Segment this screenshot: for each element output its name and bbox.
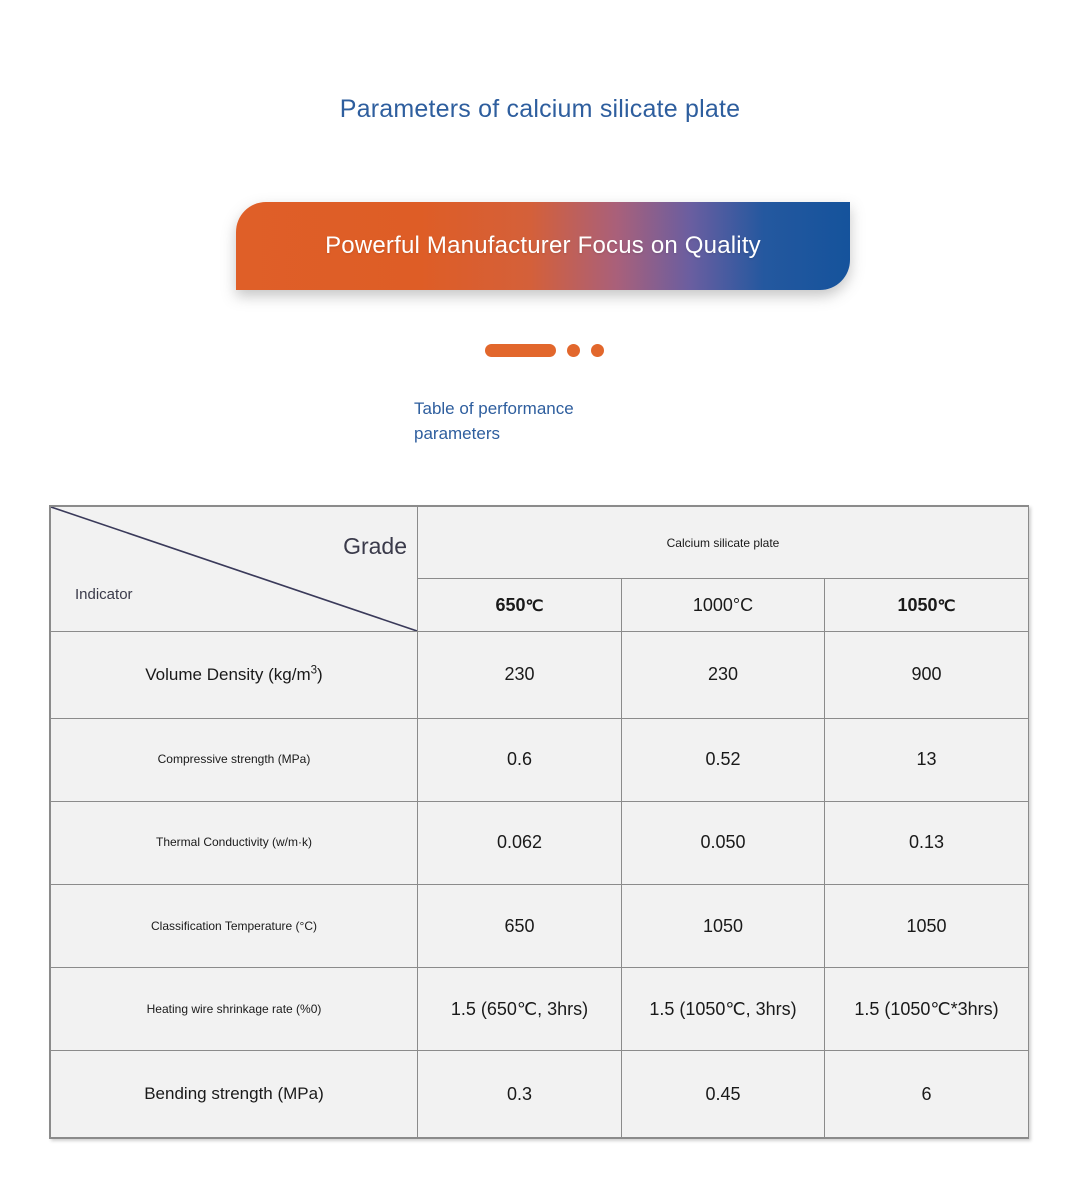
banner-label: Powerful Manufacturer Focus on Quality bbox=[236, 202, 850, 290]
cell-value: 0.3 bbox=[418, 1051, 622, 1138]
column-group-header: Calcium silicate plate bbox=[418, 507, 1029, 579]
row-label-classification-temperature: Classification Temperature (°C) bbox=[51, 884, 418, 967]
cell-value: 900 bbox=[825, 632, 1029, 719]
diagonal-line-icon bbox=[51, 507, 417, 631]
cell-value: 650 bbox=[418, 884, 622, 967]
page-title: Parameters of calcium silicate plate bbox=[0, 92, 1080, 126]
cell-value: 13 bbox=[825, 718, 1029, 801]
banner: Powerful Manufacturer Focus on Quality bbox=[236, 202, 850, 290]
decorative-dot-icon bbox=[567, 344, 580, 357]
cell-value: 0.45 bbox=[622, 1051, 825, 1138]
section-subtitle: Table of performance parameters bbox=[414, 396, 644, 446]
cell-value: 0.050 bbox=[622, 801, 825, 884]
table-row: Thermal Conductivity (w/m·k) 0.062 0.050… bbox=[51, 801, 1029, 884]
cell-value: 0.13 bbox=[825, 801, 1029, 884]
cell-value: 1.5 (1050℃*3hrs) bbox=[825, 968, 1029, 1051]
cell-value: 230 bbox=[622, 632, 825, 719]
row-label-bending-strength: Bending strength (MPa) bbox=[51, 1051, 418, 1138]
parameter-table: Grade Indicator Calcium silicate plate 6… bbox=[50, 506, 1029, 1138]
decorative-dot-icon bbox=[591, 344, 604, 357]
corner-diagonal-cell: Grade Indicator bbox=[51, 507, 418, 632]
decorative-divider bbox=[485, 344, 604, 357]
row-label-heating-wire-shrinkage: Heating wire shrinkage rate (%0) bbox=[51, 968, 418, 1051]
corner-indicator-label: Indicator bbox=[75, 586, 133, 603]
column-header-650: 650℃ bbox=[418, 579, 622, 632]
table-row: Bending strength (MPa) 0.3 0.45 6 bbox=[51, 1051, 1029, 1138]
cell-value: 6 bbox=[825, 1051, 1029, 1138]
table-row: Classification Temperature (°C) 650 1050… bbox=[51, 884, 1029, 967]
column-header-1000: 1000°C bbox=[622, 579, 825, 632]
row-label-volume-density: Volume Density (kg/m3) bbox=[51, 632, 418, 719]
cell-value: 230 bbox=[418, 632, 622, 719]
table-row: Volume Density (kg/m3) 230 230 900 bbox=[51, 632, 1029, 719]
table-row: Heating wire shrinkage rate (%0) 1.5 (65… bbox=[51, 968, 1029, 1051]
table-row: Compressive strength (MPa) 0.6 0.52 13 bbox=[51, 718, 1029, 801]
page-root: Parameters of calcium silicate plate Pow… bbox=[0, 0, 1080, 1187]
row-label-thermal-conductivity: Thermal Conductivity (w/m·k) bbox=[51, 801, 418, 884]
parameter-table-container: Grade Indicator Calcium silicate plate 6… bbox=[49, 505, 1029, 1139]
decorative-bar-icon bbox=[485, 344, 556, 357]
table-header-row-group: Grade Indicator Calcium silicate plate bbox=[51, 507, 1029, 579]
row-label-compressive-strength: Compressive strength (MPa) bbox=[51, 718, 418, 801]
cell-value: 0.6 bbox=[418, 718, 622, 801]
cell-value: 1.5 (650℃, 3hrs) bbox=[418, 968, 622, 1051]
cell-value: 1050 bbox=[825, 884, 1029, 967]
corner-grade-label: Grade bbox=[343, 533, 407, 560]
cell-value: 1050 bbox=[622, 884, 825, 967]
column-header-1050: 1050℃ bbox=[825, 579, 1029, 632]
banner-gradient: Powerful Manufacturer Focus on Quality bbox=[236, 202, 850, 290]
cell-value: 1.5 (1050℃, 3hrs) bbox=[622, 968, 825, 1051]
cell-value: 0.062 bbox=[418, 801, 622, 884]
cell-value: 0.52 bbox=[622, 718, 825, 801]
